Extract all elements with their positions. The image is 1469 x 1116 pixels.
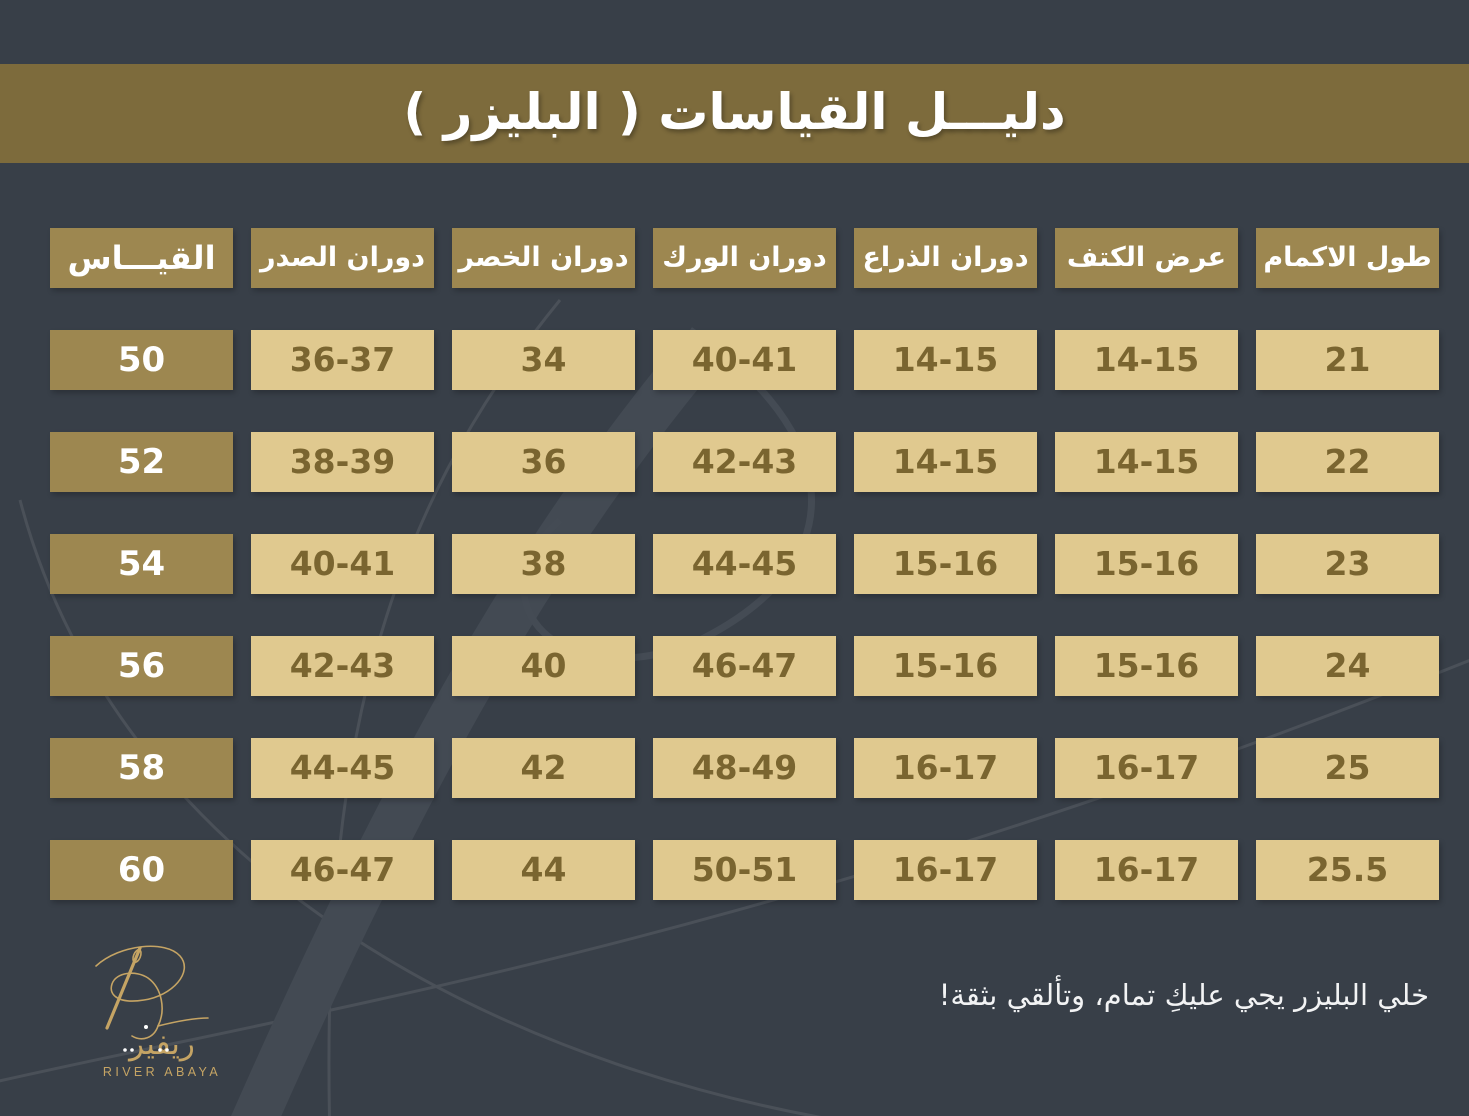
cell-arm-circumference: 14-15: [854, 330, 1037, 390]
table-head: طول الاكمام عرض الكتف دوران الذراع دوران…: [50, 228, 1439, 288]
cell-chest-circumference: 42-43: [251, 636, 434, 696]
cell-shoulder-width: 16-17: [1055, 840, 1238, 900]
table-header-row: طول الاكمام عرض الكتف دوران الذراع دوران…: [50, 228, 1439, 288]
cell-hip-circumference: 50-51: [653, 840, 836, 900]
cell-shoulder-width: 15-16: [1055, 636, 1238, 696]
cell-chest-circumference: 46-47: [251, 840, 434, 900]
column-header-shoulder-width: عرض الكتف: [1055, 228, 1238, 288]
cell-sleeve-length: 23: [1256, 534, 1439, 594]
cell-waist-circumference: 38: [452, 534, 635, 594]
cell-sleeve-length: 25: [1256, 738, 1439, 798]
brand-logo: ريفير RIVER ABAYA: [62, 930, 262, 1090]
column-header-chest-circumference: دوران الصدر: [251, 228, 434, 288]
size-guide-page: دليـــل القياسات ( البليزر ) طول الاكمام…: [0, 0, 1469, 1116]
cell-hip-circumference: 48-49: [653, 738, 836, 798]
cell-chest-circumference: 38-39: [251, 432, 434, 492]
cell-hip-circumference: 40-41: [653, 330, 836, 390]
size-guide-table: طول الاكمام عرض الكتف دوران الذراع دوران…: [32, 186, 1457, 942]
table-row: 25 16-17 16-17 48-49 42 44-45 58: [50, 738, 1439, 798]
cell-waist-circumference: 44: [452, 840, 635, 900]
cell-chest-circumference: 44-45: [251, 738, 434, 798]
cell-arm-circumference: 16-17: [854, 738, 1037, 798]
cell-hip-circumference: 44-45: [653, 534, 836, 594]
needle-icon: [107, 948, 143, 1028]
cell-size: 52: [50, 432, 233, 492]
column-header-arm-circumference: دوران الذراع: [854, 228, 1037, 288]
cell-arm-circumference: 14-15: [854, 432, 1037, 492]
column-header-size: القيـــاس: [50, 228, 233, 288]
logo-latin-name: RIVER ABAYA: [103, 1065, 221, 1079]
cell-arm-circumference: 16-17: [854, 840, 1037, 900]
cell-shoulder-width: 14-15: [1055, 330, 1238, 390]
logo-arabic-name: ريفير: [127, 1026, 195, 1062]
cell-shoulder-width: 14-15: [1055, 432, 1238, 492]
cell-sleeve-length: 24: [1256, 636, 1439, 696]
cell-hip-circumference: 42-43: [653, 432, 836, 492]
cell-size: 54: [50, 534, 233, 594]
monogram-r-icon: [96, 946, 208, 1038]
cell-size: 58: [50, 738, 233, 798]
page-title: دليـــل القياسات ( البليزر ): [403, 87, 1065, 137]
cell-hip-circumference: 46-47: [653, 636, 836, 696]
cell-waist-circumference: 42: [452, 738, 635, 798]
cell-sleeve-length: 22: [1256, 432, 1439, 492]
cell-waist-circumference: 40: [452, 636, 635, 696]
cell-sleeve-length: 21: [1256, 330, 1439, 390]
table-body: 21 14-15 14-15 40-41 34 36-37 50 22 14-1…: [50, 330, 1439, 900]
cell-size: 56: [50, 636, 233, 696]
tagline-text: خلي البليزر يجي عليكِ تمام، وتألقي بثقة!: [939, 978, 1429, 1012]
cell-chest-circumference: 36-37: [251, 330, 434, 390]
cell-size: 60: [50, 840, 233, 900]
table-row: 21 14-15 14-15 40-41 34 36-37 50: [50, 330, 1439, 390]
cell-arm-circumference: 15-16: [854, 636, 1037, 696]
cell-size: 50: [50, 330, 233, 390]
cell-shoulder-width: 16-17: [1055, 738, 1238, 798]
title-band: دليـــل القياسات ( البليزر ): [0, 64, 1469, 163]
column-header-waist-circumference: دوران الخصر: [452, 228, 635, 288]
cell-arm-circumference: 15-16: [854, 534, 1037, 594]
table-row: 22 14-15 14-15 42-43 36 38-39 52: [50, 432, 1439, 492]
cell-chest-circumference: 40-41: [251, 534, 434, 594]
table-row: 23 15-16 15-16 44-45 38 40-41 54: [50, 534, 1439, 594]
cell-sleeve-length: 25.5: [1256, 840, 1439, 900]
column-header-hip-circumference: دوران الورك: [653, 228, 836, 288]
cell-waist-circumference: 34: [452, 330, 635, 390]
table-row: 24 15-16 15-16 46-47 40 42-43 56: [50, 636, 1439, 696]
cell-shoulder-width: 15-16: [1055, 534, 1238, 594]
column-header-sleeve-length: طول الاكمام: [1256, 228, 1439, 288]
cell-waist-circumference: 36: [452, 432, 635, 492]
table-row: 25.5 16-17 16-17 50-51 44 46-47 60: [50, 840, 1439, 900]
